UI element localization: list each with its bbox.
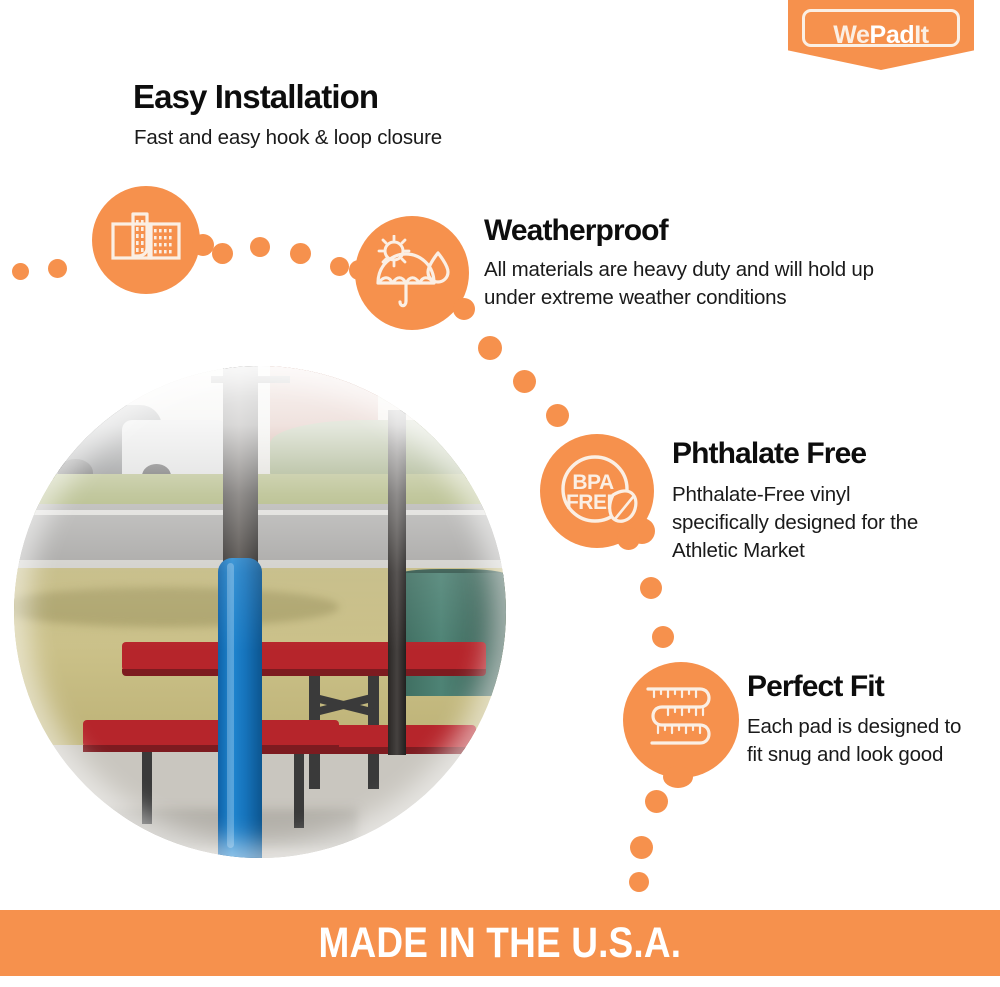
photo-blue-post-pad	[218, 558, 262, 858]
trail-dot	[640, 577, 662, 599]
badge-nub	[453, 298, 475, 320]
logo-word-we: We	[833, 23, 869, 48]
feature-body-perfect-fit: Each pad is designed to fit snug and loo…	[747, 713, 977, 769]
perfect-fit-icon-badge	[623, 662, 739, 778]
photo-secondary-post	[388, 410, 406, 754]
feature-body-easy-installation: Fast and easy hook & loop closure	[134, 124, 654, 152]
photo-bench-left-edge	[83, 745, 339, 752]
photo-bench-leg	[142, 745, 152, 824]
sun-umbrella-raindrop-icon	[372, 235, 452, 311]
photo-pavement-shadow	[63, 809, 358, 848]
logo-word-pad: Pad	[870, 23, 915, 48]
photo-table-top-edge	[122, 669, 486, 677]
logo-wordmark: WePadIt	[788, 0, 974, 70]
trail-dot	[330, 257, 349, 276]
feature-title-phthalate-free: Phthalate Free	[672, 438, 866, 470]
photo-trash-can	[398, 573, 506, 696]
photo-scene	[14, 366, 506, 858]
badge-nub	[192, 234, 214, 256]
feature-body-phthalate-free: Phthalate-Free vinyl specifically design…	[672, 481, 942, 565]
logo-word-it: It	[914, 23, 928, 48]
trail-dot	[12, 263, 29, 280]
trail-dot	[645, 790, 668, 813]
feature-title-perfect-fit: Perfect Fit	[747, 671, 884, 703]
photo-road-line	[14, 510, 506, 515]
feature-title-weatherproof: Weatherproof	[484, 215, 668, 247]
trail-dot	[617, 527, 640, 550]
feature-title-easy-installation: Easy Installation	[133, 80, 378, 115]
product-infographic: WePadIt Easy Installation Fast and easy …	[0, 0, 1000, 987]
padded-post-photo	[14, 366, 506, 858]
measuring-tape-icon	[638, 677, 724, 763]
trail-dot	[212, 243, 233, 264]
badge-nub	[349, 260, 369, 280]
brand-logo: WePadIt	[788, 0, 974, 70]
photo-blue-pad-highlight	[227, 563, 235, 848]
feature-body-weatherproof: All materials are heavy duty and will ho…	[484, 256, 914, 312]
photo-table-top	[122, 642, 486, 672]
trail-dot	[546, 404, 569, 427]
trail-dot	[48, 259, 67, 278]
trail-dot	[652, 626, 674, 648]
trail-dot	[630, 836, 653, 859]
trail-dot	[513, 370, 536, 393]
photo-bench-leg	[294, 750, 304, 829]
weatherproof-icon-badge	[355, 216, 469, 330]
trail-dot	[290, 243, 311, 264]
hook-and-loop-icon	[111, 212, 181, 268]
photo-bench-left	[83, 720, 339, 747]
badge-nub	[663, 766, 693, 788]
trail-dot	[250, 237, 270, 257]
made-in-usa-banner: MADE IN THE U.S.A.	[0, 910, 1000, 976]
trail-dot	[478, 336, 502, 360]
hook-and-loop-icon-badge	[92, 186, 200, 294]
trail-dot	[629, 872, 649, 892]
made-in-usa-text: MADE IN THE U.S.A.	[319, 919, 682, 968]
photo-lawn-shadow	[14, 587, 339, 626]
